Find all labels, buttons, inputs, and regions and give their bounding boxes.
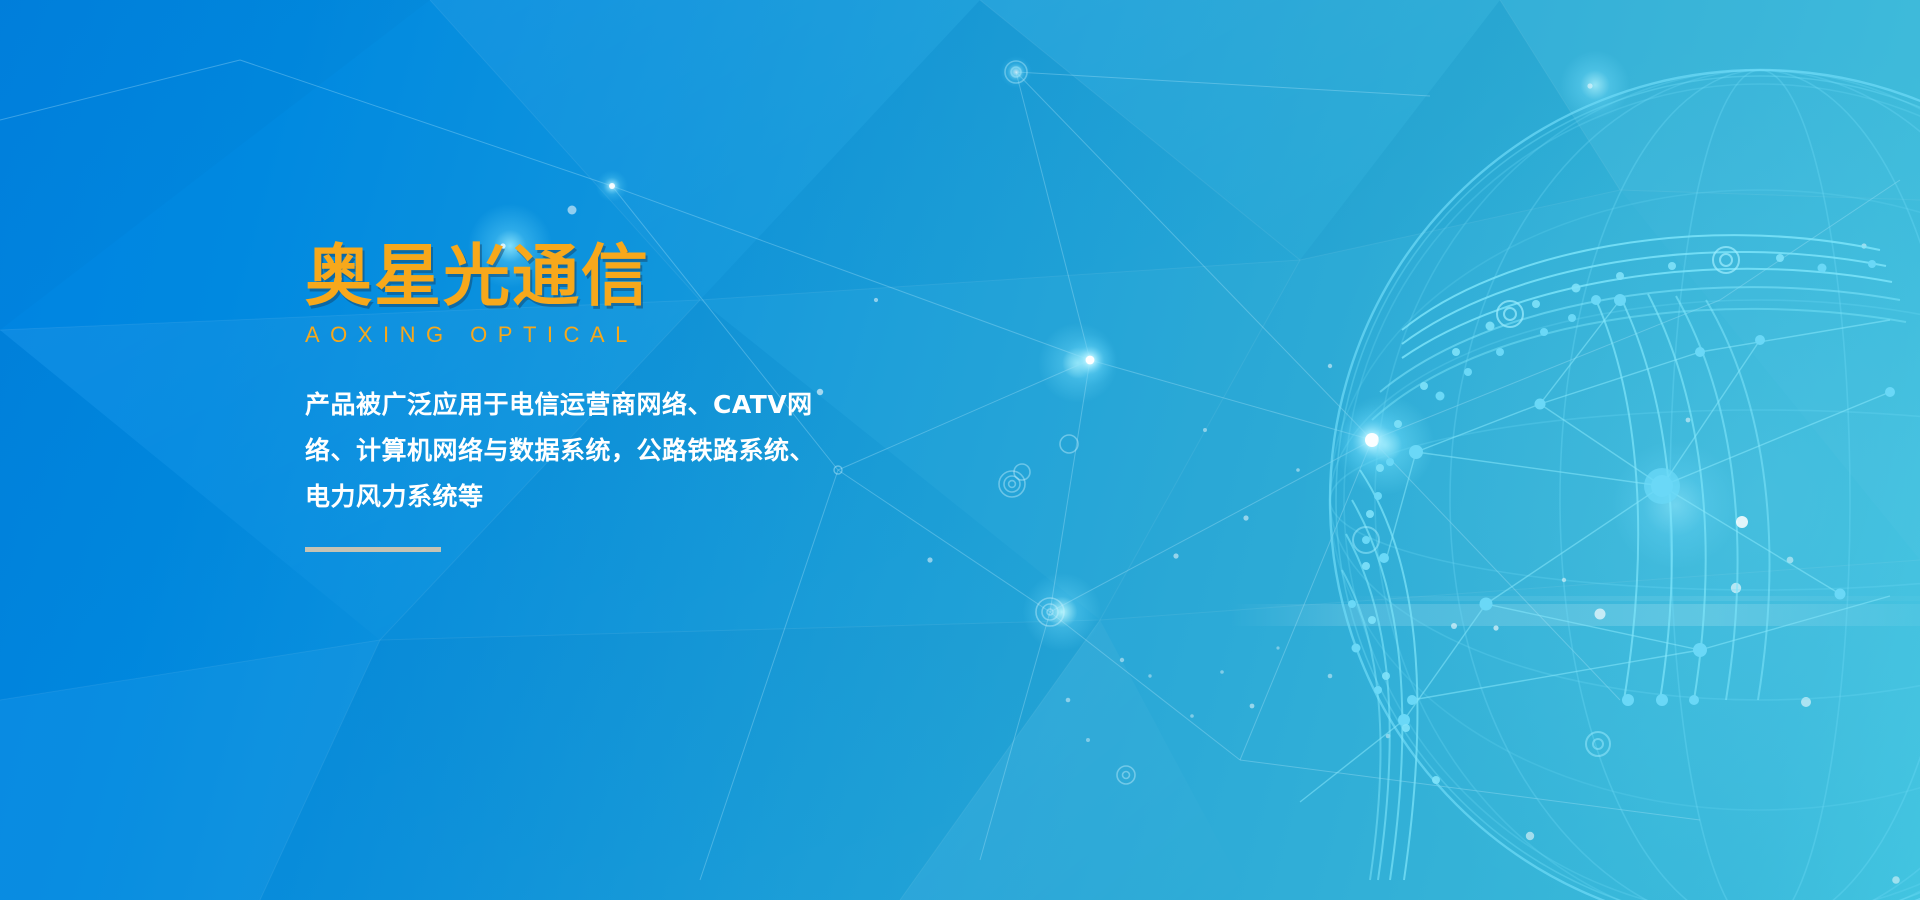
accent-divider [305,547,441,552]
brand-title-en: AOXING OPTICAL [305,322,985,348]
hero-description-line-2: 络、计算机网络与数据系统，公路铁路系统、 [305,428,945,474]
hero-banner: 奥星光通信 AOXING OPTICAL 产品被广泛应用于电信运营商网络、CAT… [0,0,1920,900]
brand-title-cn: 奥星光通信 [305,240,985,312]
globe-haze [1290,30,1920,900]
hero-description: 产品被广泛应用于电信运营商网络、CATV网 络、计算机网络与数据系统，公路铁路系… [305,382,945,520]
hero-text-block: 奥星光通信 AOXING OPTICAL 产品被广泛应用于电信运营商网络、CAT… [305,240,985,552]
hero-description-line-3: 电力风力系统等 [305,474,945,520]
hero-description-line-1: 产品被广泛应用于电信运营商网络、CATV网 [305,382,945,428]
